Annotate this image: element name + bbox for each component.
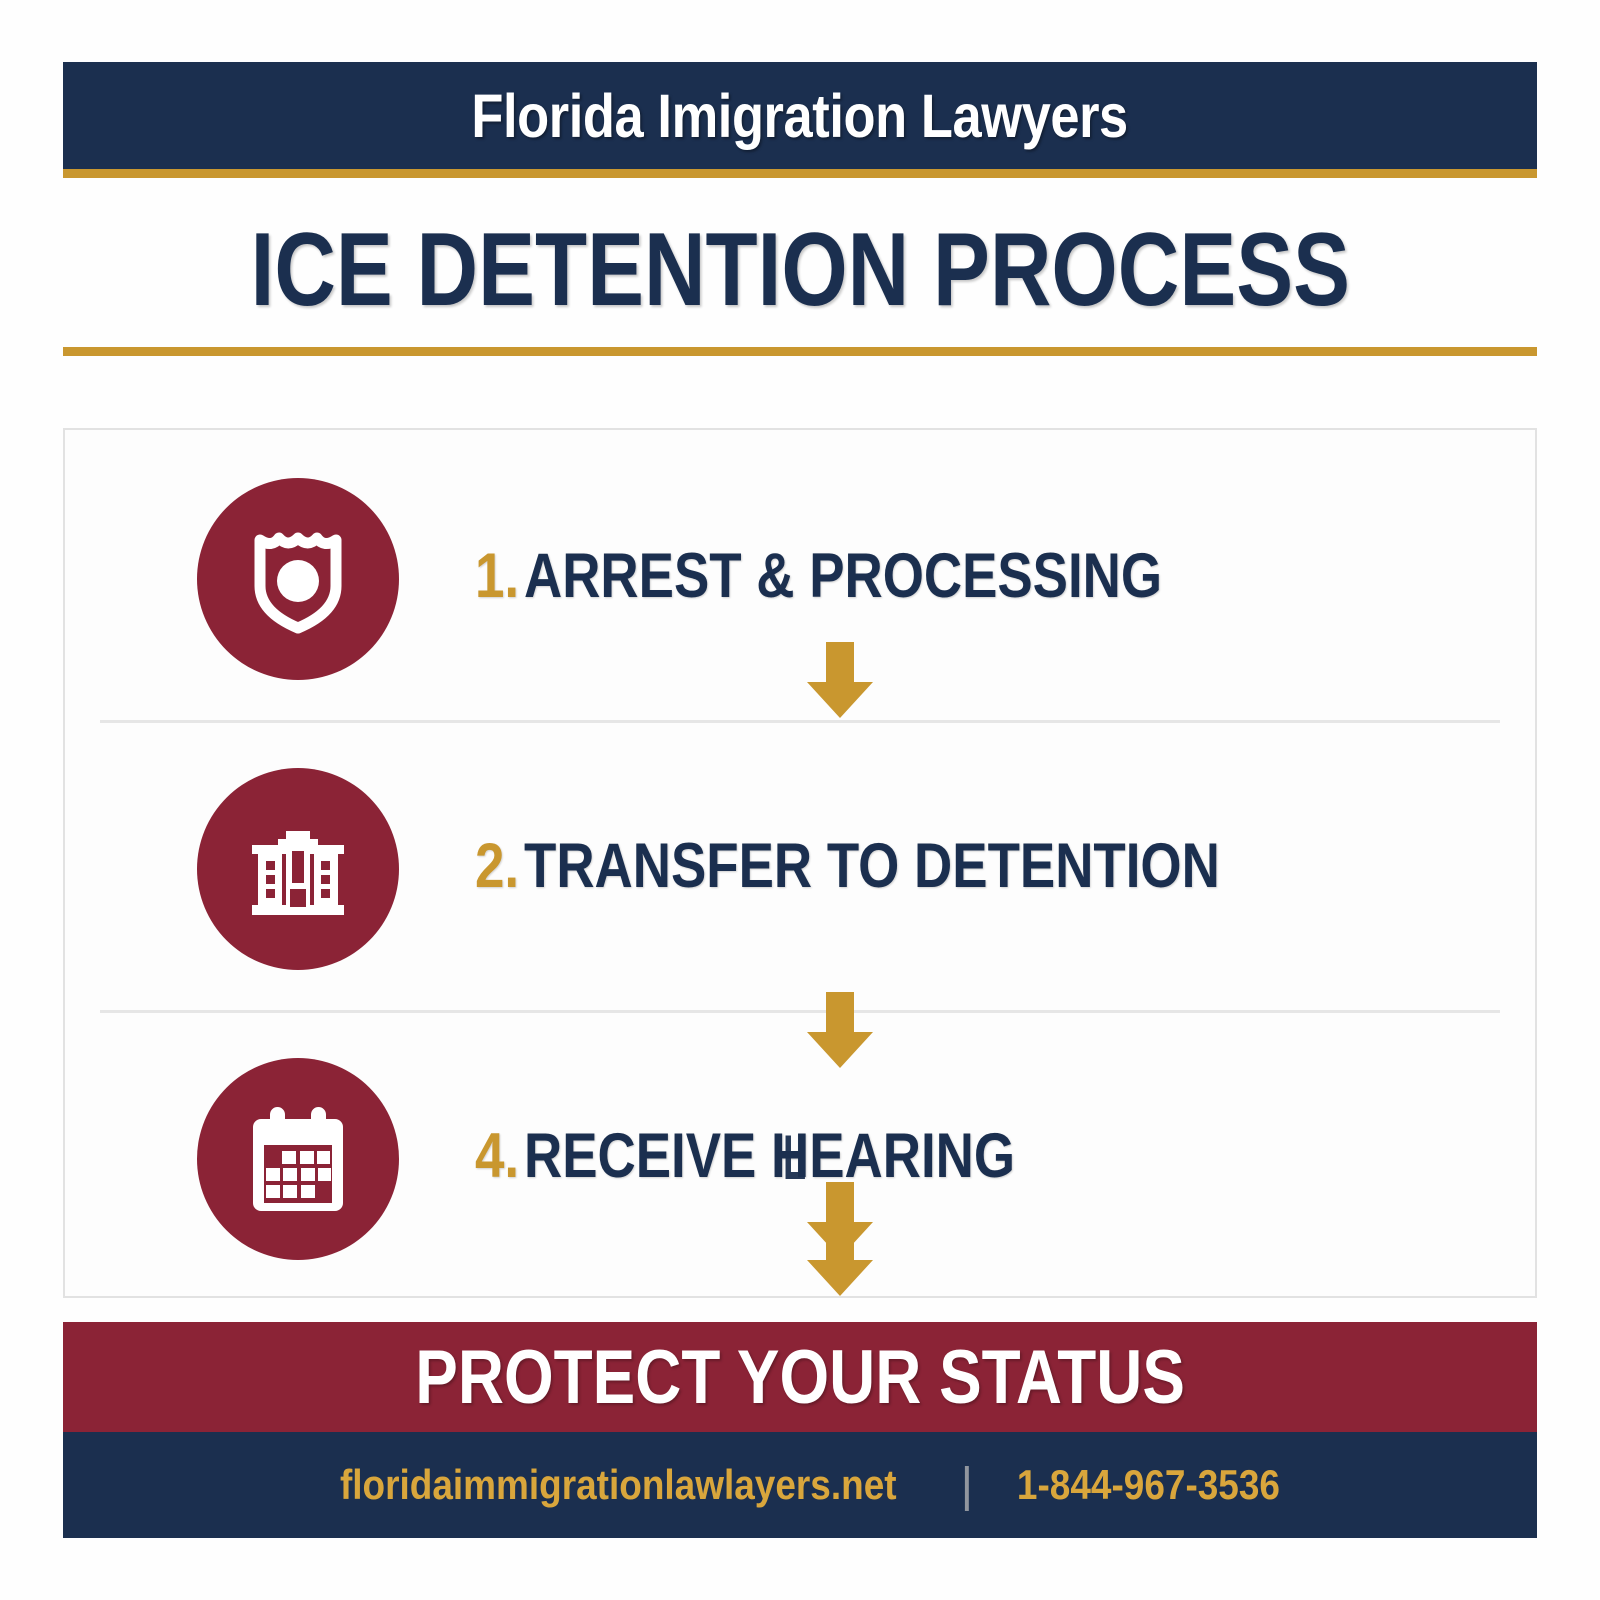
step-row: 2. TRANSFER TO DETENTION	[65, 720, 1535, 1010]
step-label: 2. TRANSFER TO DETENTION	[475, 816, 1352, 916]
step-row: 1. ARREST & PROCESSING	[65, 430, 1535, 720]
footer-separator: |	[935, 1458, 999, 1513]
step-title: ARREST & PROCESSING	[524, 540, 1162, 612]
step-number: 1.	[475, 540, 519, 612]
step-label: 1. ARREST & PROCESSING	[475, 526, 1283, 626]
cta-banner: PROTECT YOUR STATUS	[63, 1322, 1537, 1432]
website-link[interactable]: floridaimmigrationlawlayers.net	[340, 1461, 897, 1509]
step-title: RECEIVE HEARING	[524, 1120, 1015, 1192]
step-icon-circle	[197, 1058, 399, 1260]
cta-text: PROTECT YOUR STATUS	[415, 1334, 1185, 1421]
step-title: TRANSFER TO DETENTION	[524, 830, 1220, 902]
gold-rule-top	[63, 169, 1537, 178]
process-steps-card: 1. ARREST & PROCESSING	[63, 428, 1537, 1298]
page-title: ICE DETENTION PROCESS	[63, 200, 1537, 340]
brand-name: Florida Imigration Lawyers	[472, 81, 1128, 151]
infographic-poster: Florida Imigration Lawyers ICE DETENTION…	[0, 0, 1600, 1600]
police-badge-icon	[246, 524, 350, 634]
step-number: 4.	[475, 1120, 519, 1192]
down-arrow-icon	[807, 992, 873, 1068]
down-arrow-icon	[807, 642, 873, 718]
down-arrow-icon	[807, 1182, 873, 1258]
calendar-icon	[245, 1103, 351, 1215]
gold-rule-middle	[63, 347, 1537, 356]
step-number: 2.	[475, 830, 519, 902]
footer-bar: floridaimmigrationlawlayers.net | 1-844-…	[63, 1432, 1537, 1538]
step-icon-circle	[197, 478, 399, 680]
brand-header-bar: Florida Imigration Lawyers	[63, 62, 1537, 169]
page-title-text: ICE DETENTION PROCESS	[250, 218, 1349, 322]
glyph-render-artifact: L	[783, 1122, 806, 1194]
phone-number[interactable]: 1-844-967-3536	[1017, 1461, 1280, 1509]
step-row: 4. RECEIVE HEARING L	[65, 1010, 1535, 1300]
detention-building-icon	[244, 817, 352, 921]
step-icon-circle	[197, 768, 399, 970]
